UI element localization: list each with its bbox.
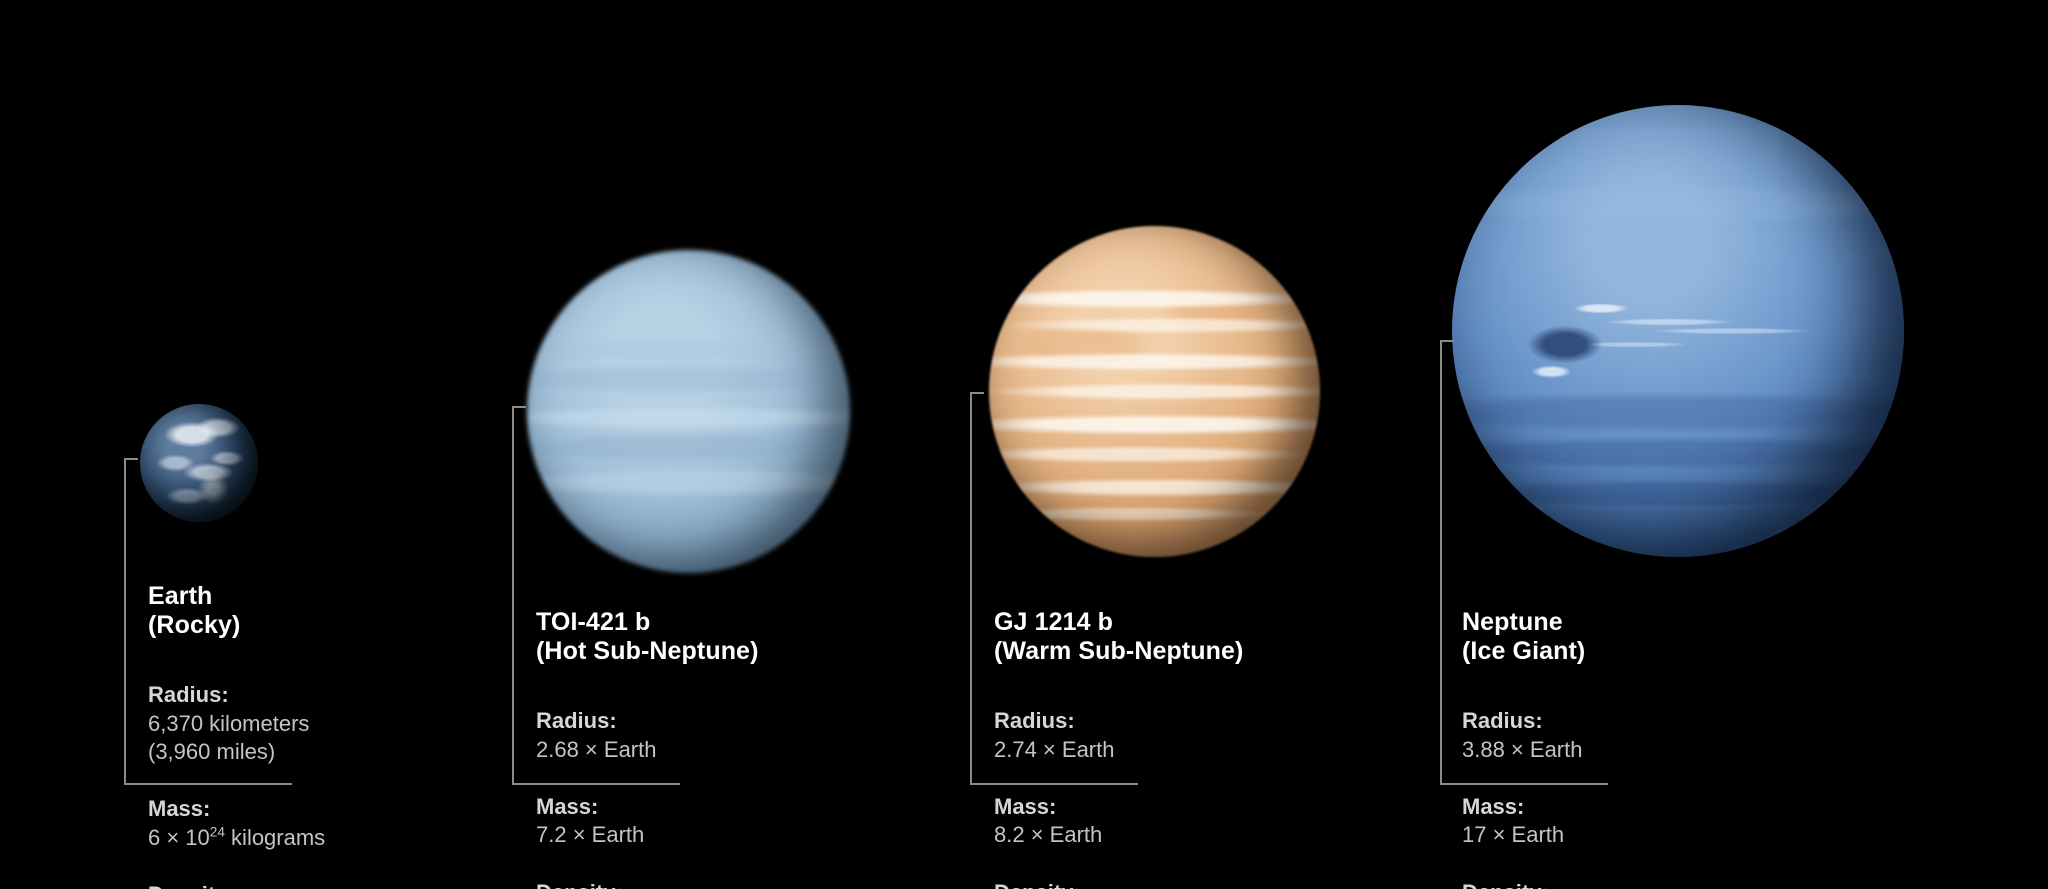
stat-density-earth: Density: 5.5 × water <box>148 853 568 889</box>
bracket-vertical-line <box>124 458 126 785</box>
stat-density-neptune: Density: 1.6 × water <box>1462 850 1882 889</box>
stat-radius-neptune: Radius: 3.88 × Earth <box>1462 679 1882 765</box>
stat-mass-value: 7.2 × Earth <box>536 822 644 847</box>
planet-stats-neptune: Radius: 3.88 × Earth Mass: 17 × Earth De… <box>1462 679 1882 889</box>
planet-stats-earth: Radius: 6,370 kilometers (3,960 miles) M… <box>148 653 568 889</box>
stat-mass-gj-1214-b: Mass: 8.2 × Earth <box>994 764 1414 850</box>
stat-radius-value: 2.68 × Earth <box>536 737 656 762</box>
stat-radius-label: Radius: <box>1462 708 1543 733</box>
stat-mass-toi-421-b: Mass: 7.2 × Earth <box>536 764 956 850</box>
stat-radius-toi-421-b: Radius: 2.68 × Earth <box>536 679 956 765</box>
bracket-vertical-line <box>1440 340 1442 785</box>
stat-mass-value: 17 × Earth <box>1462 822 1564 847</box>
planet-stats-gj-1214-b: Radius: 2.74 × Earth Mass: 8.2 × Earth D… <box>994 679 1414 889</box>
planet-disk-earth <box>140 404 258 522</box>
bracket-top-tick <box>970 392 984 394</box>
stat-density-label: Density: <box>148 882 235 889</box>
stat-mass-value-unit: kilograms <box>225 825 325 850</box>
bracket-top-tick <box>512 406 526 408</box>
planet-size-comparison-figure: Earth (Rocky) Radius: 6,370 kilometers (… <box>0 0 2048 889</box>
stat-density-gj-1214-b: Density: 2.2 × water <box>994 850 1414 889</box>
stat-radius-label: Radius: <box>536 708 617 733</box>
caption-toi-421-b: TOI-421 b (Hot Sub-Neptune) Radius: 2.68… <box>536 608 956 889</box>
stat-radius-value: 3.88 × Earth <box>1462 737 1582 762</box>
stat-mass-earth: Mass: 6 × 1024 kilograms <box>148 767 568 853</box>
stat-density-label: Density: <box>994 880 1081 889</box>
planet-disk-toi-421-b <box>527 250 850 573</box>
planet-disk-gj-1214-b <box>989 226 1320 557</box>
planet-name-toi-421-b: TOI-421 b (Hot Sub-Neptune) <box>536 608 956 667</box>
bracket-vertical-line <box>970 392 972 785</box>
stat-mass-value-base: 6 × 10 <box>148 825 210 850</box>
stat-density-toi-421-b: Density: 2.05 × water <box>536 850 956 889</box>
stat-radius-label: Radius: <box>994 708 1075 733</box>
stat-density-label: Density: <box>536 880 623 889</box>
stat-radius-label: Radius: <box>148 682 229 707</box>
planet-name-neptune: Neptune (Ice Giant) <box>1462 608 1882 667</box>
stat-radius-earth: Radius: 6,370 kilometers (3,960 miles) <box>148 653 568 767</box>
stat-mass-value: 8.2 × Earth <box>994 822 1102 847</box>
planet-name-gj-1214-b: GJ 1214 b (Warm Sub-Neptune) <box>994 608 1414 667</box>
stat-mass-exponent: 24 <box>210 825 225 840</box>
stat-mass-label: Mass: <box>536 794 598 819</box>
stat-mass-label: Mass: <box>994 794 1056 819</box>
stat-radius-value: 2.74 × Earth <box>994 737 1114 762</box>
caption-earth: Earth (Rocky) Radius: 6,370 kilometers (… <box>148 582 568 889</box>
stat-mass-neptune: Mass: 17 × Earth <box>1462 764 1882 850</box>
planet-stats-toi-421-b: Radius: 2.68 × Earth Mass: 7.2 × Earth D… <box>536 679 956 889</box>
planet-name-earth: Earth (Rocky) <box>148 582 568 641</box>
caption-neptune: Neptune (Ice Giant) Radius: 3.88 × Earth… <box>1462 608 1882 889</box>
stat-density-label: Density: <box>1462 880 1549 889</box>
stat-radius-gj-1214-b: Radius: 2.74 × Earth <box>994 679 1414 765</box>
stat-mass-label: Mass: <box>1462 794 1524 819</box>
planet-disk-neptune <box>1452 105 1904 557</box>
bracket-top-tick <box>124 458 138 460</box>
stat-radius-value: 6,370 kilometers (3,960 miles) <box>148 711 309 765</box>
stat-mass-label: Mass: <box>148 796 210 821</box>
caption-gj-1214-b: GJ 1214 b (Warm Sub-Neptune) Radius: 2.7… <box>994 608 1414 889</box>
